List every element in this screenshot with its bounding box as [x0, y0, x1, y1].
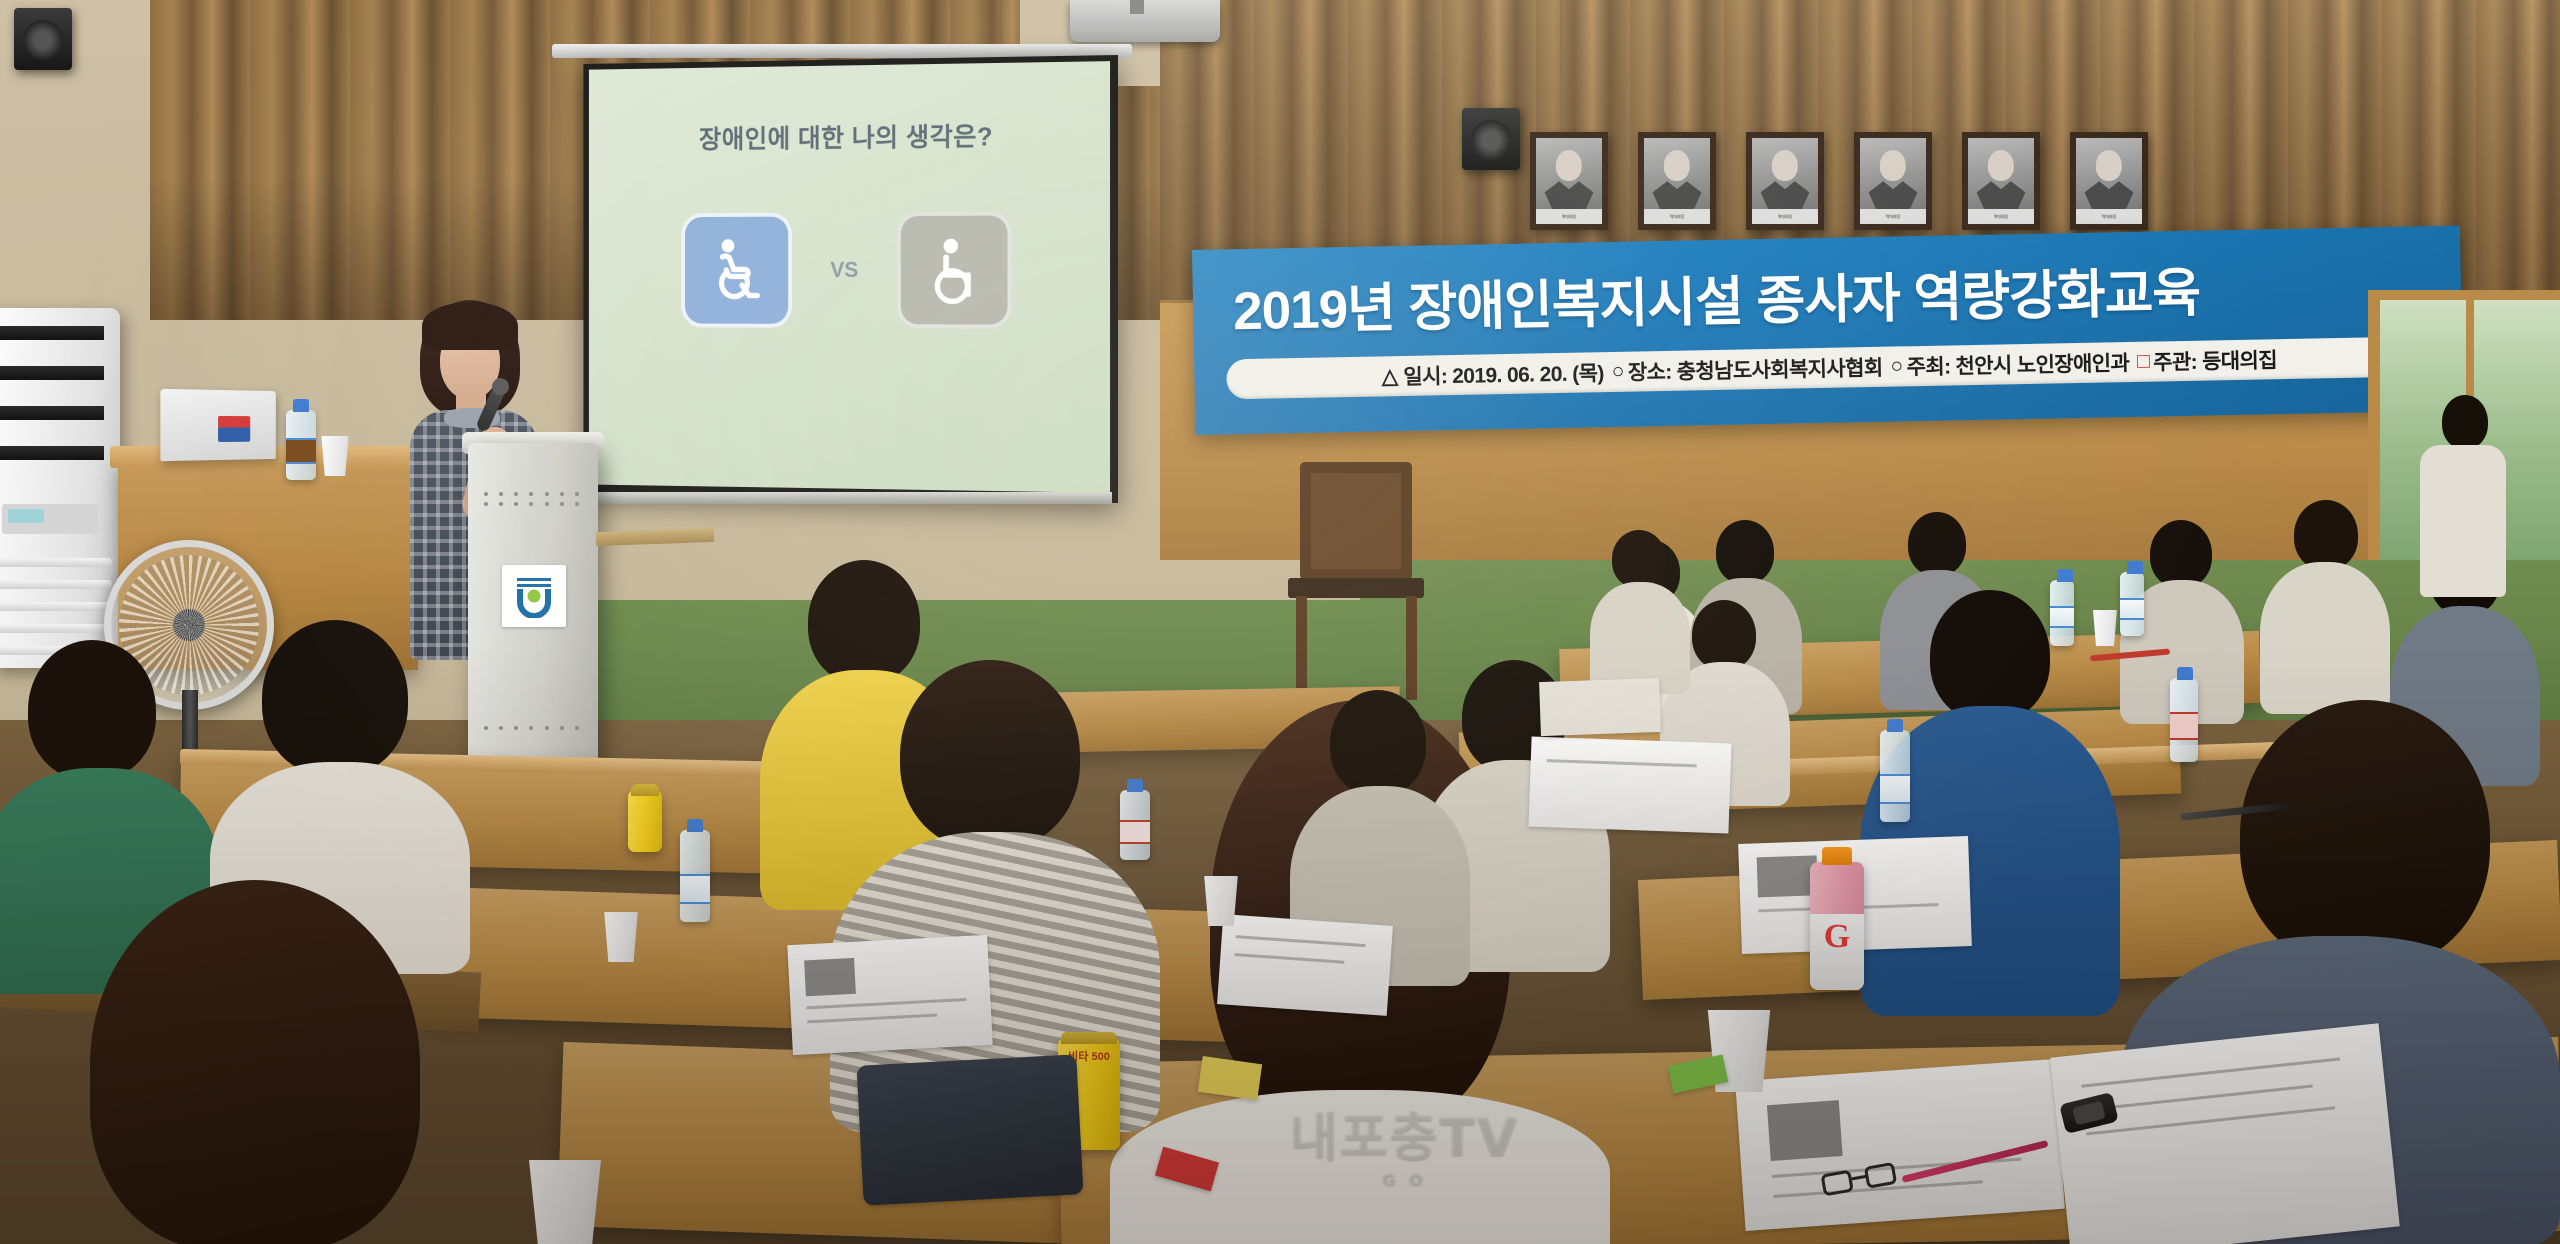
portrait-frame: 역대회장: [1854, 132, 1932, 230]
bottle-label: [2170, 712, 2198, 740]
aircon-louver: [0, 558, 112, 567]
head: [262, 620, 408, 776]
paper-figure: [804, 958, 856, 997]
wall-speaker-right: [1462, 108, 1520, 170]
gatorade-bottle[interactable]: G: [1810, 862, 1864, 990]
portrait-frame: 역대회장: [1962, 132, 2040, 230]
gatorade-label: G: [1810, 914, 1864, 990]
slide-surface: 장애인에 대한 나의 생각은? VS: [589, 61, 1110, 493]
portrait-caption: 역대회장: [1968, 209, 2034, 224]
chair-seat: [1288, 578, 1424, 598]
audience-member-foreground-left: [0, 880, 620, 1244]
paper-figure: [1767, 1100, 1843, 1161]
paper-line: [2086, 1106, 2335, 1135]
torso: [2420, 445, 2506, 597]
paper-line: [1236, 935, 1366, 947]
paper-line: [1547, 759, 1697, 767]
audience-member: [2260, 500, 2390, 710]
podium-vent-dots: [484, 726, 582, 730]
banner-date-label: 일시:: [1403, 360, 1447, 391]
banner-title: 2019년 장애인복지시설 종사자 역량강화교육: [1232, 246, 2437, 345]
water-bottle[interactable]: [1880, 730, 1910, 822]
banner-place-value: 충청남도사회복지사협회: [1676, 352, 1882, 386]
banner-place-marker: ○: [1611, 360, 1624, 384]
portrait-caption: 역대회장: [1644, 209, 1710, 224]
handout-paper[interactable]: [1217, 914, 1393, 1016]
banner-date-value: 2019. 06. 20. (목): [1452, 357, 1604, 390]
head: [1612, 530, 1666, 588]
bottle-cap: [1822, 847, 1852, 865]
portrait-frame: 역대회장: [1530, 132, 1608, 230]
head: [1692, 600, 1756, 670]
tea-bottle[interactable]: [286, 410, 316, 480]
laptop-sticker: [218, 416, 250, 442]
aircon-vent: [0, 406, 104, 420]
paper-line: [807, 1014, 937, 1024]
ceiling-projector: [1070, 0, 1220, 42]
soda-bottle[interactable]: [2170, 678, 2198, 762]
projector-mount: [1130, 0, 1144, 14]
document[interactable]: [1539, 678, 1661, 736]
wheelchair-static-icon: [897, 212, 1011, 329]
wheelchair-accessible-icon: [682, 213, 793, 328]
handout-paper[interactable]: [1528, 737, 1731, 834]
can-top: [631, 784, 659, 796]
aircon-louver: [0, 580, 112, 589]
aircon-louver: [0, 602, 112, 611]
water-bottle[interactable]: [2050, 580, 2074, 646]
slide-title: 장애인에 대한 나의 생각은?: [589, 115, 1110, 157]
handout-paper[interactable]: [787, 935, 992, 1055]
head: [90, 880, 420, 1244]
head: [1930, 590, 2050, 722]
chair-leg: [1406, 596, 1417, 700]
glasses-lens: [1820, 1170, 1853, 1197]
head: [1716, 520, 1774, 584]
standing-attendee: [2420, 395, 2506, 595]
wooden-armchair[interactable]: [1282, 462, 1430, 712]
aircon-vent: [0, 446, 104, 460]
handout-paper[interactable]: [1735, 1059, 2065, 1231]
head: [2294, 500, 2358, 570]
portrait-frame: 역대회장: [1638, 132, 1716, 230]
portrait-frame: 역대회장: [1746, 132, 1824, 230]
head: [1908, 512, 1966, 576]
water-bottle[interactable]: [2120, 572, 2144, 636]
can-top: [1061, 1032, 1117, 1044]
banner-info-bar: △ 일시: 2019. 06. 20. (목) ○ 장소: 충청남도사회복지사협…: [1226, 336, 2433, 399]
stand-air-conditioner: [0, 308, 120, 668]
head: [1330, 690, 1426, 796]
paper-line: [1234, 953, 1344, 964]
bag[interactable]: [856, 1054, 1083, 1205]
portrait-caption: 역대회장: [1860, 209, 1926, 224]
banner-organizer-marker: □: [2137, 350, 2150, 374]
slide-symbols: VS: [589, 211, 1110, 329]
head: [2150, 520, 2212, 588]
projection-screen: 장애인에 대한 나의 생각은? VS: [583, 55, 1118, 503]
banner-host-marker: ○: [1890, 354, 1903, 378]
portrait-body: [1869, 179, 1918, 212]
bottle-label: [286, 438, 316, 464]
booklet[interactable]: [2050, 1023, 2400, 1244]
portrait-body: [1653, 179, 1702, 212]
presenter-hair-front: [422, 302, 518, 350]
paper-line: [806, 998, 966, 1009]
portrait-body: [1545, 179, 1594, 212]
portrait-head: [1664, 150, 1690, 181]
head: [2240, 700, 2490, 970]
bottle-label: [1880, 774, 1910, 804]
banner-host-label: 주최:: [1906, 350, 1950, 381]
portrait-body: [2085, 179, 2134, 212]
bottle-label: [2050, 606, 2074, 628]
bottle-label: [1120, 820, 1150, 844]
head: [2442, 395, 2488, 449]
banner-place-label: 장소:: [1628, 356, 1672, 387]
wall-speaker-left: [14, 8, 72, 70]
banner-date-marker: △: [1382, 364, 1398, 389]
paper-line: [2084, 1085, 2313, 1112]
head: [28, 640, 156, 780]
portrait-head: [1988, 150, 2014, 181]
portrait-frame: 역대회장: [2070, 132, 2148, 230]
portrait-body: [1977, 179, 2026, 212]
glasses-lens: [1864, 1162, 1897, 1189]
portrait-head: [2096, 150, 2122, 181]
seminar-room-photo: 장애인에 대한 나의 생각은? VS: [0, 0, 2560, 1244]
aircon-louver: [0, 624, 112, 633]
portrait-caption: 역대회장: [2076, 209, 2142, 224]
portrait-head: [1772, 150, 1798, 181]
event-banner: 2019년 장애인복지시설 종사자 역량강화교육 △ 일시: 2019. 06.…: [1192, 226, 2463, 435]
banner-organizer-value: 등대의집: [2202, 344, 2277, 375]
portrait-caption: 역대회장: [1536, 209, 1602, 224]
podium-logo: [502, 565, 566, 627]
water-bottle[interactable]: [680, 830, 710, 922]
portrait-head: [1556, 150, 1582, 181]
screen-bottom-bar: [560, 492, 1112, 504]
aircon-display: [8, 509, 44, 523]
head: [900, 660, 1080, 850]
paper-line: [2081, 1058, 2340, 1088]
chair-back: [1300, 462, 1412, 580]
vs-label: VS: [830, 257, 858, 282]
gatorade-brand-letter: G: [1824, 920, 1850, 954]
portrait-body: [1761, 179, 1810, 212]
portrait-head: [1880, 150, 1906, 181]
banner-organizer-label: 주관:: [2153, 346, 2197, 377]
paper-figure: [1757, 855, 1818, 897]
banner-host-value: 천안시 노인장애인과: [1955, 347, 2129, 380]
aircon-vent: [0, 366, 104, 380]
laptop[interactable]: [160, 389, 275, 461]
vitamin-drink-can[interactable]: [628, 790, 662, 852]
bottle-label: [680, 874, 710, 904]
water-bottle[interactable]: [1120, 790, 1150, 860]
portrait-caption: 역대회장: [1752, 209, 1818, 224]
podium-vent-dots: [484, 492, 582, 506]
torso: [2260, 562, 2390, 714]
bottle-label: [2120, 598, 2144, 620]
aircon-vent: [0, 326, 104, 340]
